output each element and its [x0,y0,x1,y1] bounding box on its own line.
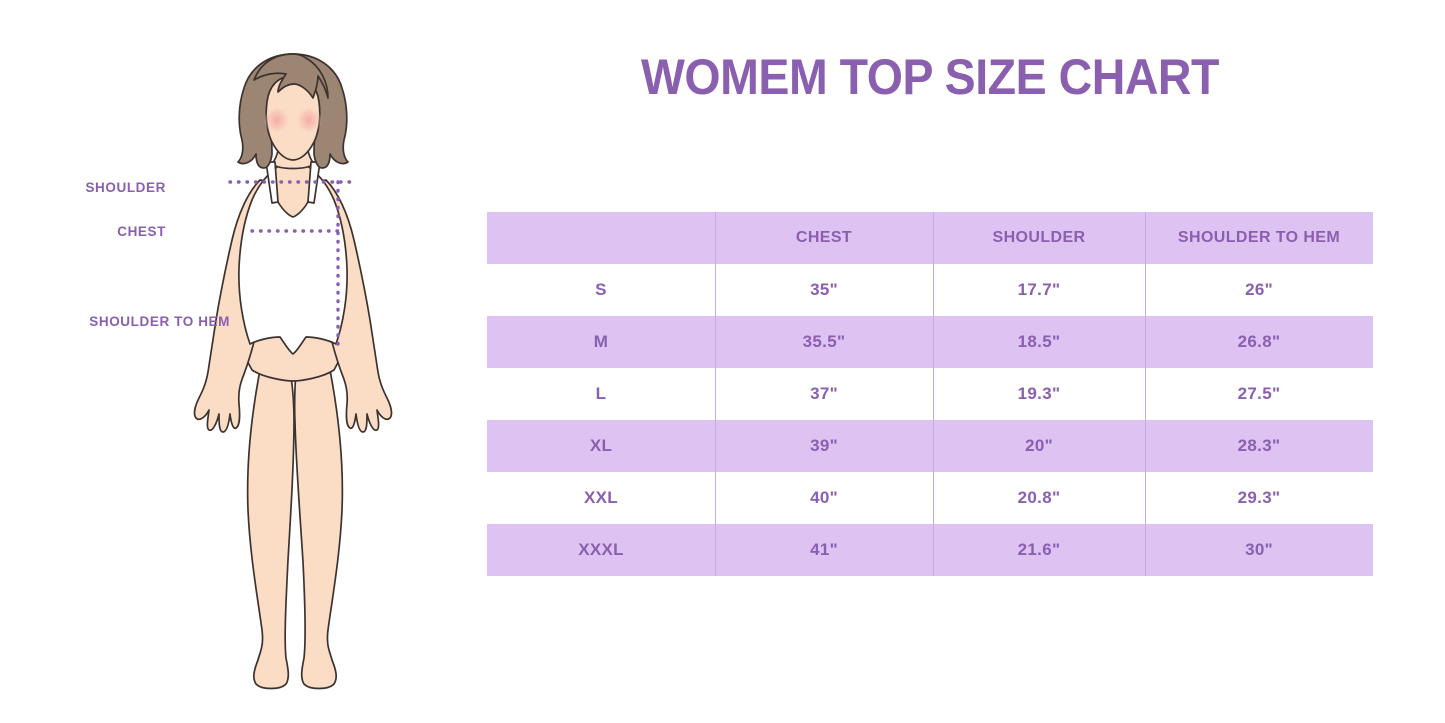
shoulder-to-hem-cell: 27.5" [1145,368,1373,420]
chest-cell: 39" [715,420,933,472]
right-leg [295,370,343,689]
chest-cell: 40" [715,472,933,524]
page-title: WOMEM TOP SIZE CHART [518,48,1342,106]
size-cell: XL [487,420,715,472]
column-header-shoulder-to-hem: SHOULDER TO HEM [1145,212,1373,264]
shoulder-cell: 19.3" [933,368,1145,420]
table-row: L37"19.3"27.5" [487,368,1373,420]
chest-cell: 35" [715,264,933,316]
table-header-row: CHEST SHOULDER SHOULDER TO HEM [487,212,1373,264]
table-row: XXL40"20.8"29.3" [487,472,1373,524]
table-row: M35.5"18.5"26.8" [487,316,1373,368]
blush-right-cheek [296,106,322,134]
table-body: S35"17.7"26"M35.5"18.5"26.8"L37"19.3"27.… [487,264,1373,576]
size-chart-table: CHEST SHOULDER SHOULDER TO HEM S35"17.7"… [487,212,1373,576]
size-cell: M [487,316,715,368]
size-cell: XXL [487,472,715,524]
shoulder-to-hem-cell: 30" [1145,524,1373,576]
size-cell: XXXL [487,524,715,576]
female-body-figure [168,40,418,700]
shoulder-to-hem-cell: 29.3" [1145,472,1373,524]
blush-left-cheek [264,106,290,134]
shoulder-cell: 17.7" [933,264,1145,316]
figure-panel: SHOULDER CHEST SHOULDER TO HEM [0,0,470,723]
shoulder-cell: 21.6" [933,524,1145,576]
chest-cell: 35.5" [715,316,933,368]
measure-label-chest: CHEST [117,224,166,239]
left-leg [248,370,294,689]
size-cell: S [487,264,715,316]
column-header-size [487,212,715,264]
shoulder-to-hem-cell: 28.3" [1145,420,1373,472]
size-cell: L [487,368,715,420]
shoulder-to-hem-cell: 26" [1145,264,1373,316]
shoulder-cell: 18.5" [933,316,1145,368]
table-header: CHEST SHOULDER SHOULDER TO HEM [487,212,1373,264]
shoulder-cell: 20" [933,420,1145,472]
table-row: S35"17.7"26" [487,264,1373,316]
table-row: XL39"20"28.3" [487,420,1373,472]
measure-label-shoulder: SHOULDER [85,180,166,195]
table-row: XXXL41"21.6"30" [487,524,1373,576]
chest-cell: 37" [715,368,933,420]
column-header-chest: CHEST [715,212,933,264]
shoulder-to-hem-cell: 26.8" [1145,316,1373,368]
shoulder-cell: 20.8" [933,472,1145,524]
chest-cell: 41" [715,524,933,576]
measure-label-shoulder-to-hem: SHOULDER TO HEM [89,314,230,329]
column-header-shoulder: SHOULDER [933,212,1145,264]
